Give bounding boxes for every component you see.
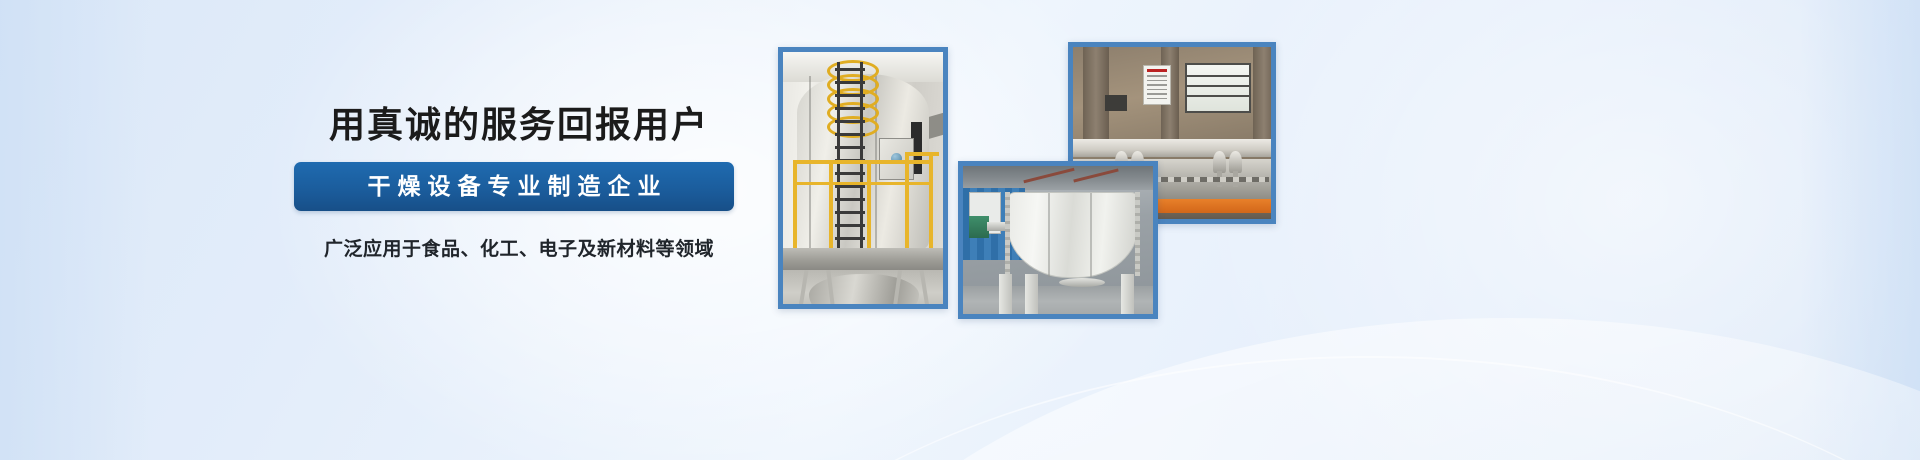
photo-spray-dryer-tower[interactable]	[778, 47, 948, 309]
background-swoosh	[760, 318, 1920, 460]
photo-spray-dryer-tower-image	[783, 52, 943, 304]
background-edge-right	[1800, 0, 1920, 460]
promo-banner: 用真诚的服务回报用户 干燥设备专业制造企业 广泛应用于食品、化工、电子及新材料等…	[0, 0, 1920, 460]
photo-ribbon-mixer[interactable]	[958, 161, 1158, 319]
background-swoosh-outline	[640, 356, 1920, 460]
access-ladder	[835, 62, 865, 250]
background-glow-right	[1180, 0, 1920, 460]
photo-ribbon-mixer-image	[963, 166, 1153, 314]
banner-copy: 用真诚的服务回报用户 干燥设备专业制造企业 广泛应用于食品、化工、电子及新材料等…	[294, 104, 744, 261]
background-edge-left	[0, 0, 150, 460]
banner-subtitle: 广泛应用于食品、化工、电子及新材料等领域	[294, 234, 744, 261]
banner-tagline-pill[interactable]: 干燥设备专业制造企业	[294, 162, 734, 211]
banner-headline: 用真诚的服务回报用户	[294, 104, 744, 146]
